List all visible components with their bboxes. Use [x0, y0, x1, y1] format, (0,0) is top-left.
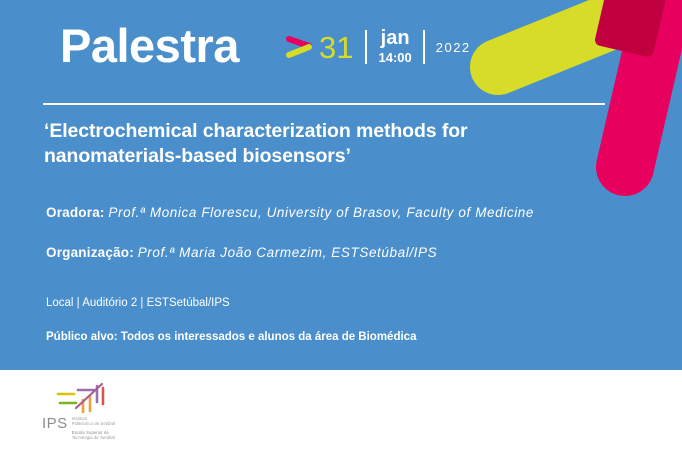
- audience-line: Público alvo: Todos os interessados e al…: [46, 331, 416, 343]
- date-divider-2: [423, 30, 425, 64]
- talk-title: ‘Electrochemical characterization method…: [44, 119, 584, 169]
- ips-acronym: IPS: [42, 416, 68, 431]
- speaker-value: Prof.ª Monica Florescu, University of Br…: [108, 205, 534, 220]
- ips-logo-line2: Politécnico de Setúbal: [72, 421, 116, 426]
- ips-logo-line4: Tecnologia de Setúbal: [72, 435, 116, 440]
- poster-footer: IPS Instituto Politécnico de Setúbal Esc…: [0, 370, 682, 461]
- ips-logo-mark-icon: [56, 382, 112, 414]
- location-line: Local | Auditório 2 | ESTSetúbal/IPS: [46, 297, 230, 309]
- page-title: Palestra: [60, 22, 239, 69]
- poster-blue-panel: Palestra 31 jan 14:00 2022 ‘Electrochemi…: [0, 0, 682, 370]
- chevron-right-icon: [286, 34, 314, 60]
- event-poster: Palestra 31 jan 14:00 2022 ‘Electrochemi…: [0, 0, 682, 461]
- organization-value: Prof.ª Maria João Carmezim, ESTSetúbal/I…: [138, 245, 438, 260]
- event-month-time: jan 14:00: [378, 28, 411, 67]
- audience-value: Todos os interessados e alunos da área d…: [121, 331, 417, 343]
- ips-logo-subtitle: Instituto Politécnico de Setúbal Escola …: [72, 416, 116, 440]
- event-date-block: 31 jan 14:00 2022: [286, 24, 471, 70]
- speaker-line: Oradora: Prof.ª Monica Florescu, Univers…: [46, 205, 534, 220]
- organization-label: Organização:: [46, 245, 134, 260]
- ips-logo-text: IPS Instituto Politécnico de Setúbal Esc…: [42, 416, 115, 440]
- event-time: 14:00: [378, 50, 411, 65]
- header-divider-rule: [43, 103, 605, 105]
- ips-logo-line3: Escola Superior de: [72, 430, 116, 435]
- ips-logo: IPS Instituto Politécnico de Setúbal Esc…: [42, 382, 142, 450]
- event-year: 2022: [436, 40, 471, 55]
- speaker-label: Oradora:: [46, 205, 105, 220]
- date-divider-1: [365, 30, 367, 64]
- event-month: jan: [381, 27, 410, 49]
- audience-label: Público alvo:: [46, 331, 118, 343]
- organization-line: Organização: Prof.ª Maria João Carmezim,…: [46, 245, 437, 260]
- event-day: 31: [319, 32, 353, 63]
